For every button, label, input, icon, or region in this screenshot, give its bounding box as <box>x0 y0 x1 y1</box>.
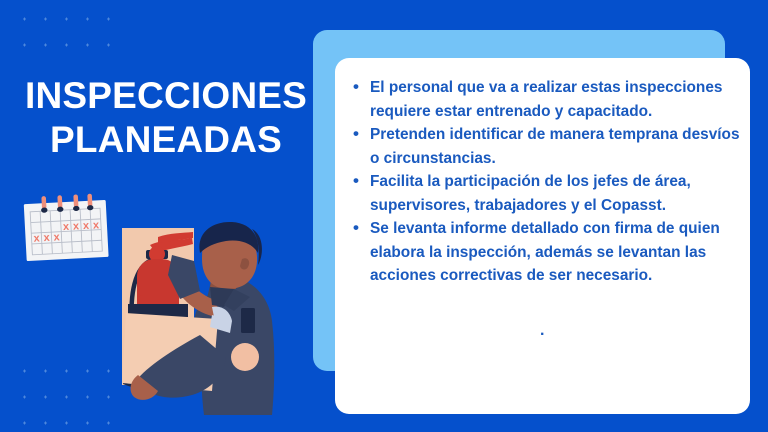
list-item: El personal que va a realizar estas insp… <box>350 76 745 123</box>
slide-root: INSPECCIONES PLANEADAS El personal que v… <box>0 0 768 432</box>
page-title: INSPECCIONES PLANEADAS <box>16 74 316 162</box>
calendar-icon: xx xx xxx <box>20 190 112 265</box>
stray-period: . <box>540 322 544 340</box>
list-item: Se levanta informe detallado con firma d… <box>350 217 745 288</box>
bullet-list: El personal que va a realizar estas insp… <box>350 76 745 288</box>
list-item: Facilita la participación de los jefes d… <box>350 170 745 217</box>
list-item: Pretenden identificar de manera temprana… <box>350 123 745 170</box>
bullet-list-container: El personal que va a realizar estas insp… <box>350 76 745 288</box>
dot-pattern-top-left <box>14 6 124 68</box>
inspector-illustration <box>100 215 315 432</box>
